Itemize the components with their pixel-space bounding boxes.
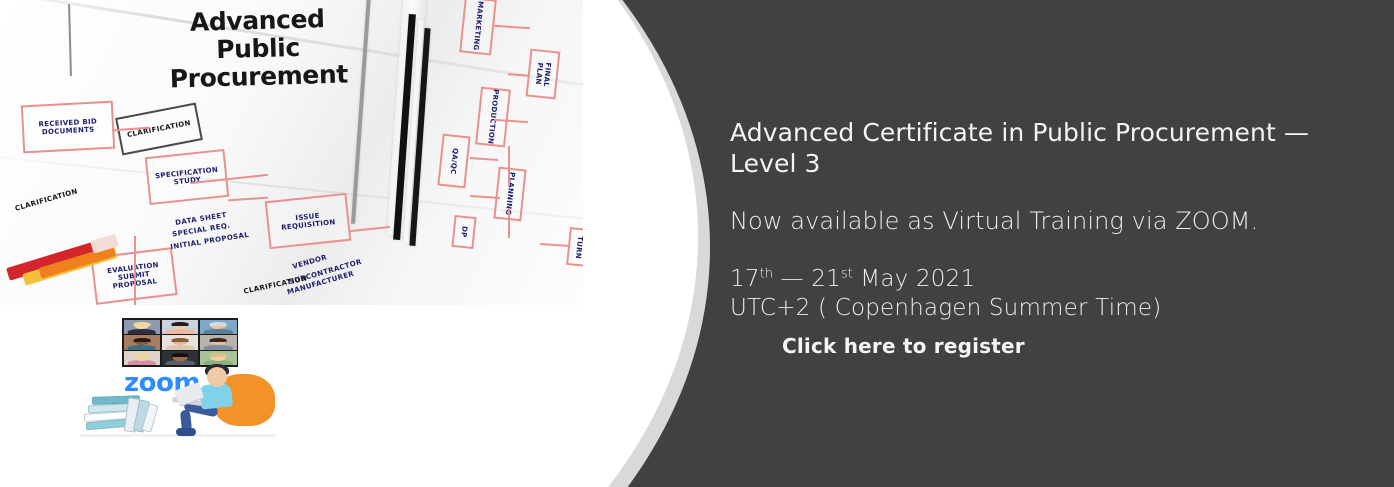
- video-participant-tile: [162, 335, 199, 349]
- diagram-box: QA/QC: [437, 134, 470, 189]
- person-shoe: [176, 428, 196, 436]
- photo-heading-line-2: Public Procurement: [169, 33, 348, 94]
- diagram-box: PRODUCTION: [475, 87, 511, 148]
- date-month-year: May 2021: [853, 266, 976, 292]
- date-and-timezone: 17th — 21st May 2021 UTC+2 ( Copenhagen …: [730, 265, 1330, 324]
- date-separator: —: [773, 266, 811, 292]
- video-participant-tile: [124, 351, 161, 365]
- person-head: [207, 367, 227, 387]
- diagram-box: PLANNING: [493, 167, 526, 222]
- video-participant-tile: [162, 351, 199, 365]
- diagram-box: SPECIFICATION STUDY: [145, 149, 230, 205]
- diagram-box: FINAL PLAN: [526, 49, 561, 100]
- photo-printed-heading: Advanced Public Procurement: [137, 4, 379, 95]
- date-day-end: 21: [811, 266, 841, 292]
- diagram-box: RECEIVED BID DOCUMENTS: [21, 101, 115, 154]
- book-stack: [82, 392, 162, 436]
- video-participant-tile: [200, 335, 237, 349]
- video-participant-tile: [124, 335, 161, 349]
- date-day-end-suffix: st: [841, 266, 853, 281]
- procurement-flowchart-photo: Advanced Public Procurement RECEIVED BID…: [0, 0, 583, 305]
- video-participant-tile: [124, 320, 161, 334]
- diagram-arrow: [508, 146, 510, 186]
- page-title: Advanced Certificate in Public Procureme…: [730, 118, 1330, 179]
- register-link[interactable]: Click here to register: [782, 333, 1025, 359]
- diagram-arrow: [508, 208, 510, 238]
- video-call-grid: [122, 318, 238, 367]
- diagram-box: DP: [451, 215, 476, 249]
- subtitle-text: Now available as Virtual Training via ZO…: [730, 207, 1330, 237]
- timezone-text: UTC+2 ( Copenhagen Summer Time): [730, 295, 1161, 321]
- date-day-start-suffix: th: [760, 266, 773, 281]
- photo-heading-line-1: Advanced: [189, 4, 324, 37]
- zoom-virtual-training-illustration: zoom: [80, 312, 280, 442]
- promo-banner: Advanced Public Procurement RECEIVED BID…: [0, 0, 1394, 487]
- diagram-arrow: [134, 236, 136, 305]
- diagram-box: ISSUE REQUISITION: [265, 193, 352, 249]
- diagram-box: MARKETING: [459, 0, 497, 56]
- video-participant-tile: [200, 320, 237, 334]
- date-day-start: 17: [730, 266, 760, 292]
- video-participant-tile: [162, 320, 199, 334]
- promo-copy: Advanced Certificate in Public Procureme…: [730, 118, 1330, 359]
